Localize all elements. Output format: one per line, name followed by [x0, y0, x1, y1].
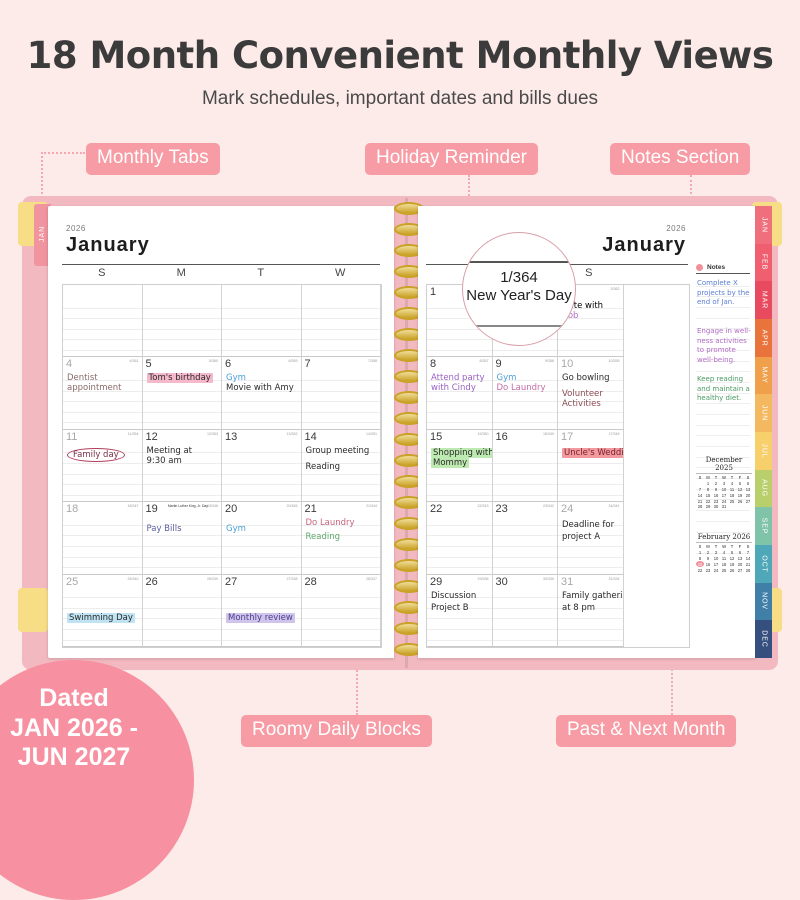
day-number: 12 — [146, 431, 158, 443]
day-number: 16 — [496, 431, 508, 443]
mini-calendar-table: SMTWTFS·12345678910111213141516171819202… — [696, 475, 752, 510]
month-tab-sep[interactable]: SEP — [755, 507, 772, 545]
calendar-cell[interactable]: 1111/354Family day — [63, 430, 143, 502]
holiday-reminder-magnifier: 1/364 New Year's Day — [462, 232, 576, 346]
calendar-cell[interactable] — [63, 285, 143, 357]
day-of-year-counter: 16/349 — [543, 432, 554, 436]
day-of-year-counter: 25/340 — [128, 577, 139, 581]
month-tab-label: NOV — [760, 592, 767, 610]
day-number: 11 — [66, 431, 77, 443]
day-of-year-counter: 28/337 — [366, 577, 377, 581]
day-of-year-counter: 27/338 — [287, 577, 298, 581]
day-number: 19 — [146, 503, 158, 515]
left-page: 2026 January SMTW 44/361Dentistappointme… — [48, 206, 394, 658]
cell-rule-lines — [302, 298, 381, 356]
day-of-year-counter: 18/347 — [128, 504, 139, 508]
mini-calendar-prev-month: December 2025SMTWTFS·1234567891011121314… — [696, 456, 752, 510]
calendar-cell[interactable]: 2828/337 — [302, 575, 382, 647]
month-tab-label: JUL — [760, 443, 767, 458]
magnifier-holiday: New Year's Day — [463, 287, 575, 304]
day-of-year-counter: 9/356 — [545, 359, 554, 363]
calendar-event[interactable]: Group meeting — [306, 446, 370, 456]
event-text: Dentist — [67, 373, 98, 383]
calendar-cell[interactable]: 99/356GymDo Laundry — [493, 357, 559, 429]
day-of-year-counter: 15/350 — [478, 432, 489, 436]
month-tab-strip[interactable]: JANFEBMARAPRMAYJUNJULAUGSEPOCTNOVDEC — [755, 206, 772, 658]
day-of-year-counter: 23/342 — [543, 504, 554, 508]
calendar-event[interactable]: Gym — [226, 373, 246, 383]
notes-label: Notes — [707, 264, 725, 271]
mini-calendar-table: SMTWTFS123456789101112131415161718192021… — [696, 544, 752, 573]
calendar-cell[interactable]: 1212/353Meeting at9:30 am — [143, 430, 223, 502]
event-text: Deadline for — [562, 520, 614, 530]
dow-s-0: S — [579, 267, 599, 279]
calendar-cell[interactable]: 2424/341Deadline forproject A — [558, 502, 624, 574]
calendar-cell[interactable]: 66/359GymMovie with Amy — [222, 357, 302, 429]
calendar-cell[interactable]: 2121/344Do LaundryReading — [302, 502, 382, 574]
day-number: 22 — [430, 503, 442, 515]
day-number: 21 — [305, 503, 317, 515]
note-entry[interactable]: Engage in well-ness activities to promot… — [697, 327, 753, 366]
event-text: Group meeting — [306, 446, 370, 456]
day-of-year-counter: 6/359 — [289, 359, 298, 363]
calendar-event[interactable]: Gym — [497, 373, 517, 383]
day-number: 30 — [496, 576, 508, 588]
calendar-event[interactable]: at 8 pm — [562, 603, 595, 613]
event-text: Volunteer — [562, 389, 603, 399]
mini-day[interactable]: 24 — [712, 567, 720, 573]
calendar-event[interactable]: Dentist — [67, 373, 98, 383]
month-tab-apr[interactable]: APR — [755, 319, 772, 357]
dated-line-3: JUN 2027 — [0, 743, 194, 773]
event-text: at 8 pm — [562, 603, 595, 613]
calendar-event[interactable]: appointment — [67, 383, 122, 393]
day-number: 26 — [146, 576, 158, 588]
event-text: Mommy — [431, 458, 469, 468]
calendar-event[interactable]: Do Laundry — [306, 518, 355, 528]
calendar-cell[interactable] — [222, 285, 302, 357]
notes-section[interactable]: Notes Complete X projects by the end of … — [696, 264, 750, 554]
calendar-event[interactable]: Family day — [67, 450, 125, 460]
page-subtitle: Mark schedules, important dates and bill… — [0, 88, 800, 110]
month-tab-mar[interactable]: MAR — [755, 281, 772, 319]
event-text: Do Laundry — [306, 518, 355, 528]
notes-lines: Complete X projects by the end of Jan.En… — [696, 276, 750, 554]
calendar-cell[interactable]: 3030/335 — [493, 575, 559, 647]
month-tab-oct[interactable]: OCT — [755, 545, 772, 583]
month-tab-label: MAR — [760, 291, 767, 309]
magnifier-rule-bottom — [463, 325, 575, 327]
right-calendar-grid: 11/36422/363fireworks33/362Date withBob8… — [426, 284, 690, 648]
month-tab-nov[interactable]: NOV — [755, 583, 772, 621]
calendar-event[interactable]: Tom's birthday — [147, 373, 213, 383]
day-of-year-counter: 21/344 — [366, 504, 377, 508]
calendar-event[interactable]: Uncle's Wedding — [562, 448, 624, 458]
event-text: appointment — [67, 383, 122, 393]
calendar-cell[interactable]: 2626/339 — [143, 575, 223, 647]
event-text: Meeting at — [147, 446, 193, 456]
day-of-year-counter: 20/345 — [287, 504, 298, 508]
event-text: with Cindy — [431, 383, 476, 393]
mini-day[interactable]: 31 — [720, 504, 728, 510]
month-tab-label: DEC — [760, 630, 767, 647]
day-number: 23 — [496, 503, 508, 515]
magnifier-fraction: 1/364 — [463, 269, 575, 286]
day-of-year-counter: 12/353 — [207, 432, 218, 436]
calendar-event[interactable]: Meeting at — [147, 446, 193, 456]
calendar-cell[interactable]: 1313/352 — [222, 430, 302, 502]
month-tab-jun[interactable]: JUN — [755, 394, 772, 432]
cell-rule-lines — [63, 515, 142, 573]
note-entry[interactable]: Complete X projects by the end of Jan. — [697, 279, 753, 308]
planner-spread: JAN 2026 January SMTW 44/361Dentistappoi… — [22, 196, 778, 670]
calendar-event[interactable]: Project B — [431, 603, 469, 613]
calendar-event[interactable]: Mommy — [431, 458, 469, 468]
mini-day[interactable]: 26 — [728, 567, 736, 573]
month-tab-label: JAN — [760, 217, 767, 233]
calendar-event[interactable]: Deadline for — [562, 520, 614, 530]
month-tab-feb[interactable]: FEB — [755, 244, 772, 282]
event-text: Tom's birthday — [147, 373, 213, 383]
dow-t-2: T — [251, 267, 271, 279]
calendar-cell[interactable]: 1414/351Group meetingReading — [302, 430, 382, 502]
month-tab-label: OCT — [760, 555, 767, 572]
day-of-year-counter: 4/361 — [130, 359, 139, 363]
month-tab-label: SEP — [760, 518, 767, 535]
cell-rule-lines — [63, 298, 142, 356]
day-of-year-counter: 11/354 — [128, 432, 139, 436]
day-number: 14 — [305, 431, 317, 443]
calendar-cell[interactable]: 1515/350Shopping withMommy — [427, 430, 493, 502]
cell-rule-lines — [427, 515, 492, 573]
dow-w-3: W — [330, 267, 350, 279]
day-number: 10 — [561, 358, 573, 370]
calendar-cell[interactable]: 1919/346Martin Luther King, Jr. DayPay B… — [143, 502, 223, 574]
dow-s-0: S — [92, 267, 112, 279]
day-number: 18 — [66, 503, 78, 515]
calendar-event[interactable]: Shopping with — [431, 448, 493, 458]
side-tab-jan-label: JAN — [39, 225, 46, 242]
calendar-event[interactable]: Swimming Day — [67, 613, 135, 623]
mini-calendar-title: December 2025 — [696, 456, 752, 474]
calendar-event[interactable]: Gym — [226, 524, 246, 534]
month-tab-aug[interactable]: AUG — [755, 470, 772, 508]
day-of-year-counter: 7/358 — [368, 359, 377, 363]
day-of-year-counter: 31/334 — [609, 577, 620, 581]
calendar-event[interactable]: Activities — [562, 399, 601, 409]
cell-rule-lines — [493, 588, 558, 646]
month-tab-may[interactable]: MAY — [755, 357, 772, 395]
mini-day[interactable]: 29 — [704, 504, 712, 510]
bullet-dot-icon — [696, 264, 703, 271]
callout-roomy-daily-blocks: Roomy Daily Blocks — [241, 715, 432, 747]
calendar-event[interactable]: Monthly review — [226, 613, 295, 623]
event-text: Gym — [497, 373, 517, 383]
mini-day[interactable]: · — [728, 504, 736, 510]
calendar-event[interactable]: Movie with Amy — [226, 383, 294, 393]
day-of-year-counter: 17/348 — [609, 432, 620, 436]
calendar-event[interactable]: Do Laundry — [497, 383, 546, 393]
dated-line-2: JAN 2026 - — [0, 714, 194, 744]
cell-rule-lines — [302, 370, 381, 428]
day-number: 13 — [225, 431, 237, 443]
mini-calendar-title: February 2026 — [696, 533, 752, 543]
event-text: 9:30 am — [147, 456, 182, 466]
mini-day[interactable]: 30 — [712, 504, 720, 510]
calendar-event[interactable]: Volunteer — [562, 389, 603, 399]
day-number: 6 — [225, 358, 231, 370]
calendar-event[interactable]: Family gathering — [562, 591, 624, 601]
calendar-cell[interactable]: 2525/340Swimming Day — [63, 575, 143, 647]
event-text: Movie with Amy — [226, 383, 294, 393]
calendar-cell[interactable] — [143, 285, 223, 357]
event-text: Family day — [67, 448, 125, 462]
note-entry[interactable]: Keep reading and maintain a healthy diet… — [697, 375, 753, 404]
cell-rule-lines — [143, 588, 222, 646]
mini-calendar-next-month: February 2026SMTWTFS12345678910111213141… — [696, 533, 752, 573]
cell-rule-lines — [222, 298, 301, 356]
calendar-event[interactable]: Discussion — [431, 591, 476, 601]
calendar-cell[interactable]: 88/357Attend partywith Cindy — [427, 357, 493, 429]
calendar-event[interactable]: Go bowling — [562, 373, 610, 383]
day-number: 4 — [66, 358, 72, 370]
magnifier-rule-top — [463, 261, 575, 263]
right-page-month: January — [602, 234, 686, 257]
month-tab-dec[interactable]: DEC — [755, 620, 772, 658]
day-of-year-counter: 26/339 — [207, 577, 218, 581]
calendar-cell[interactable]: 2323/342 — [493, 502, 559, 574]
calendar-event[interactable]: project A — [562, 532, 600, 542]
callout-notes-section: Notes Section — [610, 143, 750, 175]
month-tab-label: JUN — [760, 405, 767, 421]
event-text: Reading — [306, 532, 341, 542]
day-number: 29 — [430, 576, 442, 588]
right-page-header: 2026 January — [602, 224, 686, 257]
event-text: Pay Bills — [147, 524, 182, 534]
left-page-header: 2026 January — [66, 224, 150, 257]
event-text: Discussion — [431, 591, 476, 601]
calendar-cell[interactable]: 44/361Dentistappointment — [63, 357, 143, 429]
holiday-label: Martin Luther King, Jr. Day — [168, 504, 208, 508]
month-tab-jul[interactable]: JUL — [755, 432, 772, 470]
left-day-of-week-row: SMTW — [62, 264, 380, 284]
left-calendar-grid: 44/361Dentistappointment55/360Tom's birt… — [62, 284, 382, 648]
event-text: Reading — [306, 462, 341, 472]
callout-holiday-reminder: Holiday Reminder — [365, 143, 538, 175]
day-of-year-counter: 13/352 — [287, 432, 298, 436]
calendar-cell[interactable]: 2727/338Monthly review — [222, 575, 302, 647]
left-page-month: January — [66, 234, 150, 257]
callout-past-next-month: Past & Next Month — [556, 715, 736, 747]
mini-day[interactable]: 25 — [720, 567, 728, 573]
mini-day[interactable]: 23 — [704, 567, 712, 573]
day-of-year-counter: 19/346 — [207, 504, 218, 508]
page-title: 18 Month Convenient Monthly Views — [0, 34, 800, 77]
day-number: 27 — [225, 576, 237, 588]
day-of-year-counter: 29/336 — [478, 577, 489, 581]
right-page-year: 2026 — [602, 224, 686, 233]
calendar-cell[interactable]: 55/360Tom's birthday — [143, 357, 223, 429]
event-text: Activities — [562, 399, 601, 409]
calendar-event[interactable]: 9:30 am — [147, 456, 182, 466]
mini-day[interactable]: 22 — [696, 567, 704, 573]
event-text: Monthly review — [226, 613, 295, 623]
day-number: 31 — [561, 576, 573, 588]
day-number: 7 — [305, 358, 311, 370]
day-number: 25 — [66, 576, 78, 588]
mini-day[interactable]: 28 — [744, 567, 752, 573]
month-tab-label: MAY — [760, 367, 767, 384]
day-of-year-counter: 10/355 — [609, 359, 620, 363]
day-number: 24 — [561, 503, 573, 515]
dated-range-badge: Dated JAN 2026 - JUN 2027 — [0, 660, 194, 900]
left-page-year: 2026 — [66, 224, 150, 233]
day-number: 15 — [430, 431, 442, 443]
calendar-cell[interactable]: 1717/348Uncle's Wedding — [558, 430, 624, 502]
day-of-year-counter: 14/351 — [366, 432, 377, 436]
event-text: Project B — [431, 603, 469, 613]
event-text: Go bowling — [562, 373, 610, 383]
calendar-event[interactable]: Reading — [306, 462, 341, 472]
day-of-year-counter: 8/357 — [480, 359, 489, 363]
mini-day[interactable]: · — [736, 504, 744, 510]
calendar-cell[interactable]: 1010/355Go bowlingVolunteerActivities — [558, 357, 624, 429]
day-of-year-counter: 24/341 — [609, 504, 620, 508]
calendar-cell[interactable] — [302, 285, 382, 357]
calendar-cell[interactable]: 2929/336DiscussionProject B — [427, 575, 493, 647]
calendar-cell[interactable]: 3131/334Family gatheringat 8 pm — [558, 575, 624, 647]
calendar-event[interactable]: Reading — [306, 532, 341, 542]
calendar-event[interactable]: Pay Bills — [147, 524, 182, 534]
day-number: 20 — [225, 503, 237, 515]
event-text: Swimming Day — [67, 613, 135, 623]
calendar-cell[interactable]: 2222/343 — [427, 502, 493, 574]
month-tab-jan[interactable]: JAN — [755, 206, 772, 244]
event-text: Do Laundry — [497, 383, 546, 393]
calendar-event[interactable]: Attend party — [431, 373, 485, 383]
event-text: project A — [562, 532, 600, 542]
callout-monthly-tabs: Monthly Tabs — [86, 143, 220, 175]
calendar-cell[interactable]: 1818/347 — [63, 502, 143, 574]
day-number: 9 — [496, 358, 502, 370]
leader-line-monthly-tabs-h — [41, 152, 85, 154]
dow-m-1: M — [171, 267, 191, 279]
cell-rule-lines — [493, 515, 558, 573]
calendar-cell[interactable]: 2020/345Gym — [222, 502, 302, 574]
day-of-year-counter: 5/360 — [209, 359, 218, 363]
day-number: 1 — [430, 286, 436, 298]
dated-line-1: Dated — [0, 684, 194, 714]
calendar-cell[interactable]: 77/358 — [302, 357, 382, 429]
mini-day[interactable]: 28 — [696, 504, 704, 510]
cell-rule-lines — [222, 443, 301, 501]
spiral-binding — [394, 198, 420, 668]
month-tab-label: FEB — [760, 254, 767, 270]
day-number: 17 — [561, 431, 573, 443]
day-number: 28 — [305, 576, 317, 588]
event-text: Uncle's Wedding — [562, 448, 624, 458]
event-text: Attend party — [431, 373, 485, 383]
day-of-year-counter: 3/362 — [611, 287, 620, 291]
cell-rule-lines — [302, 588, 381, 646]
cell-rule-lines — [493, 443, 558, 501]
notes-header: Notes — [696, 264, 750, 274]
mini-day[interactable]: 27 — [736, 567, 744, 573]
day-number: 5 — [146, 358, 152, 370]
mini-day[interactable]: · — [744, 504, 752, 510]
day-number: 8 — [430, 358, 436, 370]
calendar-cell[interactable]: 1616/349 — [493, 430, 559, 502]
month-tab-label: AUG — [760, 479, 767, 497]
event-text: Family gathering — [562, 591, 624, 601]
day-of-year-counter: 22/343 — [478, 504, 489, 508]
elastic-band-bottom-left — [18, 588, 48, 632]
event-text: Gym — [226, 524, 246, 534]
event-text: Gym — [226, 373, 246, 383]
cell-rule-lines — [143, 298, 222, 356]
calendar-event[interactable]: with Cindy — [431, 383, 476, 393]
month-tab-label: APR — [760, 329, 767, 346]
event-text: Shopping with — [431, 448, 493, 458]
day-of-year-counter: 30/335 — [543, 577, 554, 581]
